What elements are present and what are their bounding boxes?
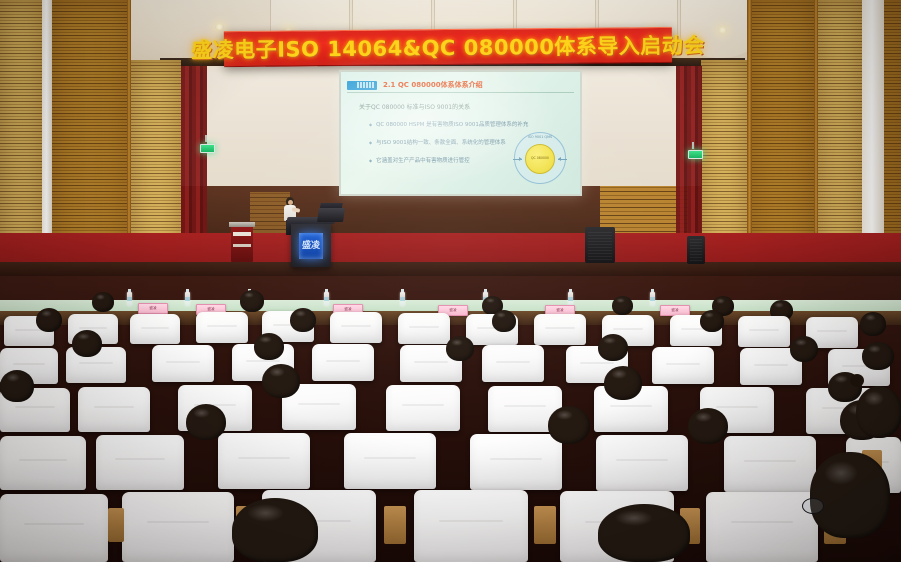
slide-bullet: QC 080000 HSPM 是有害物质ISO 9001品质管理体系的补充 [369,120,528,128]
exit-sign-left-icon [200,144,215,153]
water-bottle [127,292,132,306]
chair [596,435,688,491]
slide-lead-text: 关于QC 080000 标准与ISO 9001的关系 [359,102,470,111]
chair [470,434,562,490]
banner-text: 盛凌电子ISO 14064&QC 080000体系导入启动会 [191,30,705,65]
chair [218,433,310,489]
chair [122,492,234,562]
chair [0,494,108,562]
name-placard-label: 盛凌 [671,308,678,313]
event-banner: 盛凌电子ISO 14064&QC 080000体系导入启动会 [224,27,672,67]
exit-sign-bracket [205,135,207,142]
name-placard-label: 盛凌 [449,308,456,313]
name-placard-label: 盛凌 [556,308,563,313]
slide-diagram: ISO 9001 QMS QC 080000 [514,132,566,184]
ceiling-spotlight [215,24,224,30]
chair [330,312,382,343]
company-logo-icon [347,81,377,90]
laptop [317,208,345,222]
chair-armrest [384,506,406,544]
chair [534,314,586,345]
water-bottle [324,292,329,306]
speaker-grill [588,230,612,260]
ceiling-spotlight [718,27,727,33]
chair [398,313,450,344]
pa-speaker-far-right [687,236,705,264]
chair [724,436,816,492]
name-placard: 盛凌 [138,303,168,314]
speaker-grill [690,239,702,261]
podium-logo: 盛凌 [299,233,323,259]
chair [0,436,86,490]
slide-bullet: 与ISO 9001结构一致、条款全面、系统化的管理体系 [369,138,506,146]
projection-screen-frame: 2.1 QC 080000体系体系介绍 关于QC 080000 标准与ISO 9… [339,70,582,196]
chair [152,345,214,382]
attendee-glasses-icon [802,498,824,514]
exit-sign-right-icon [688,150,703,159]
chair [386,385,460,431]
projection-screen: 2.1 QC 080000体系体系介绍 关于QC 080000 标准与ISO 9… [341,72,580,194]
chair [652,347,714,384]
chair-armrest [108,508,124,542]
name-placard-label: 盛凌 [149,306,156,311]
diagram-inner-label: QC 080000 [531,157,549,161]
equipment-cart-top [229,222,255,227]
podium: 盛凌 [291,221,331,267]
diagram-outer-label: ISO 9001 QMS [528,135,552,139]
stage-front-edge [0,262,901,276]
chair [414,490,528,562]
chair [738,316,790,347]
chair [196,312,248,343]
pa-speaker-right [585,227,615,263]
conference-photo: 盛凌电子ISO 14064&QC 080000体系导入启动会 2.1 QC 08… [0,0,901,562]
chair [130,314,180,344]
exit-sign-bracket [692,142,694,149]
diagram-arrow-right-icon [558,159,567,160]
chair [96,435,184,490]
chair-armrest [534,506,556,544]
water-bottle [400,292,405,306]
equipment-cart-label [233,232,251,236]
attendee-hair-bun [850,374,864,387]
chair [706,492,818,562]
slide-header: 2.1 QC 080000体系体系介绍 [347,78,574,93]
water-bottle [185,292,190,306]
slide-title: 2.1 QC 080000体系体系介绍 [383,80,483,90]
chair [344,433,436,489]
diagram-inner-circle: QC 080000 [525,144,555,174]
chair [482,345,544,382]
chair [312,344,374,381]
slide-bullet: 它涵盖对生产产品中有害物质进行管控 [369,156,470,164]
water-bottle [650,292,655,306]
water-bottle [568,292,573,306]
diagram-arrow-left-icon [513,159,522,160]
chair [78,387,150,432]
equipment-cart-drawer [233,244,251,247]
